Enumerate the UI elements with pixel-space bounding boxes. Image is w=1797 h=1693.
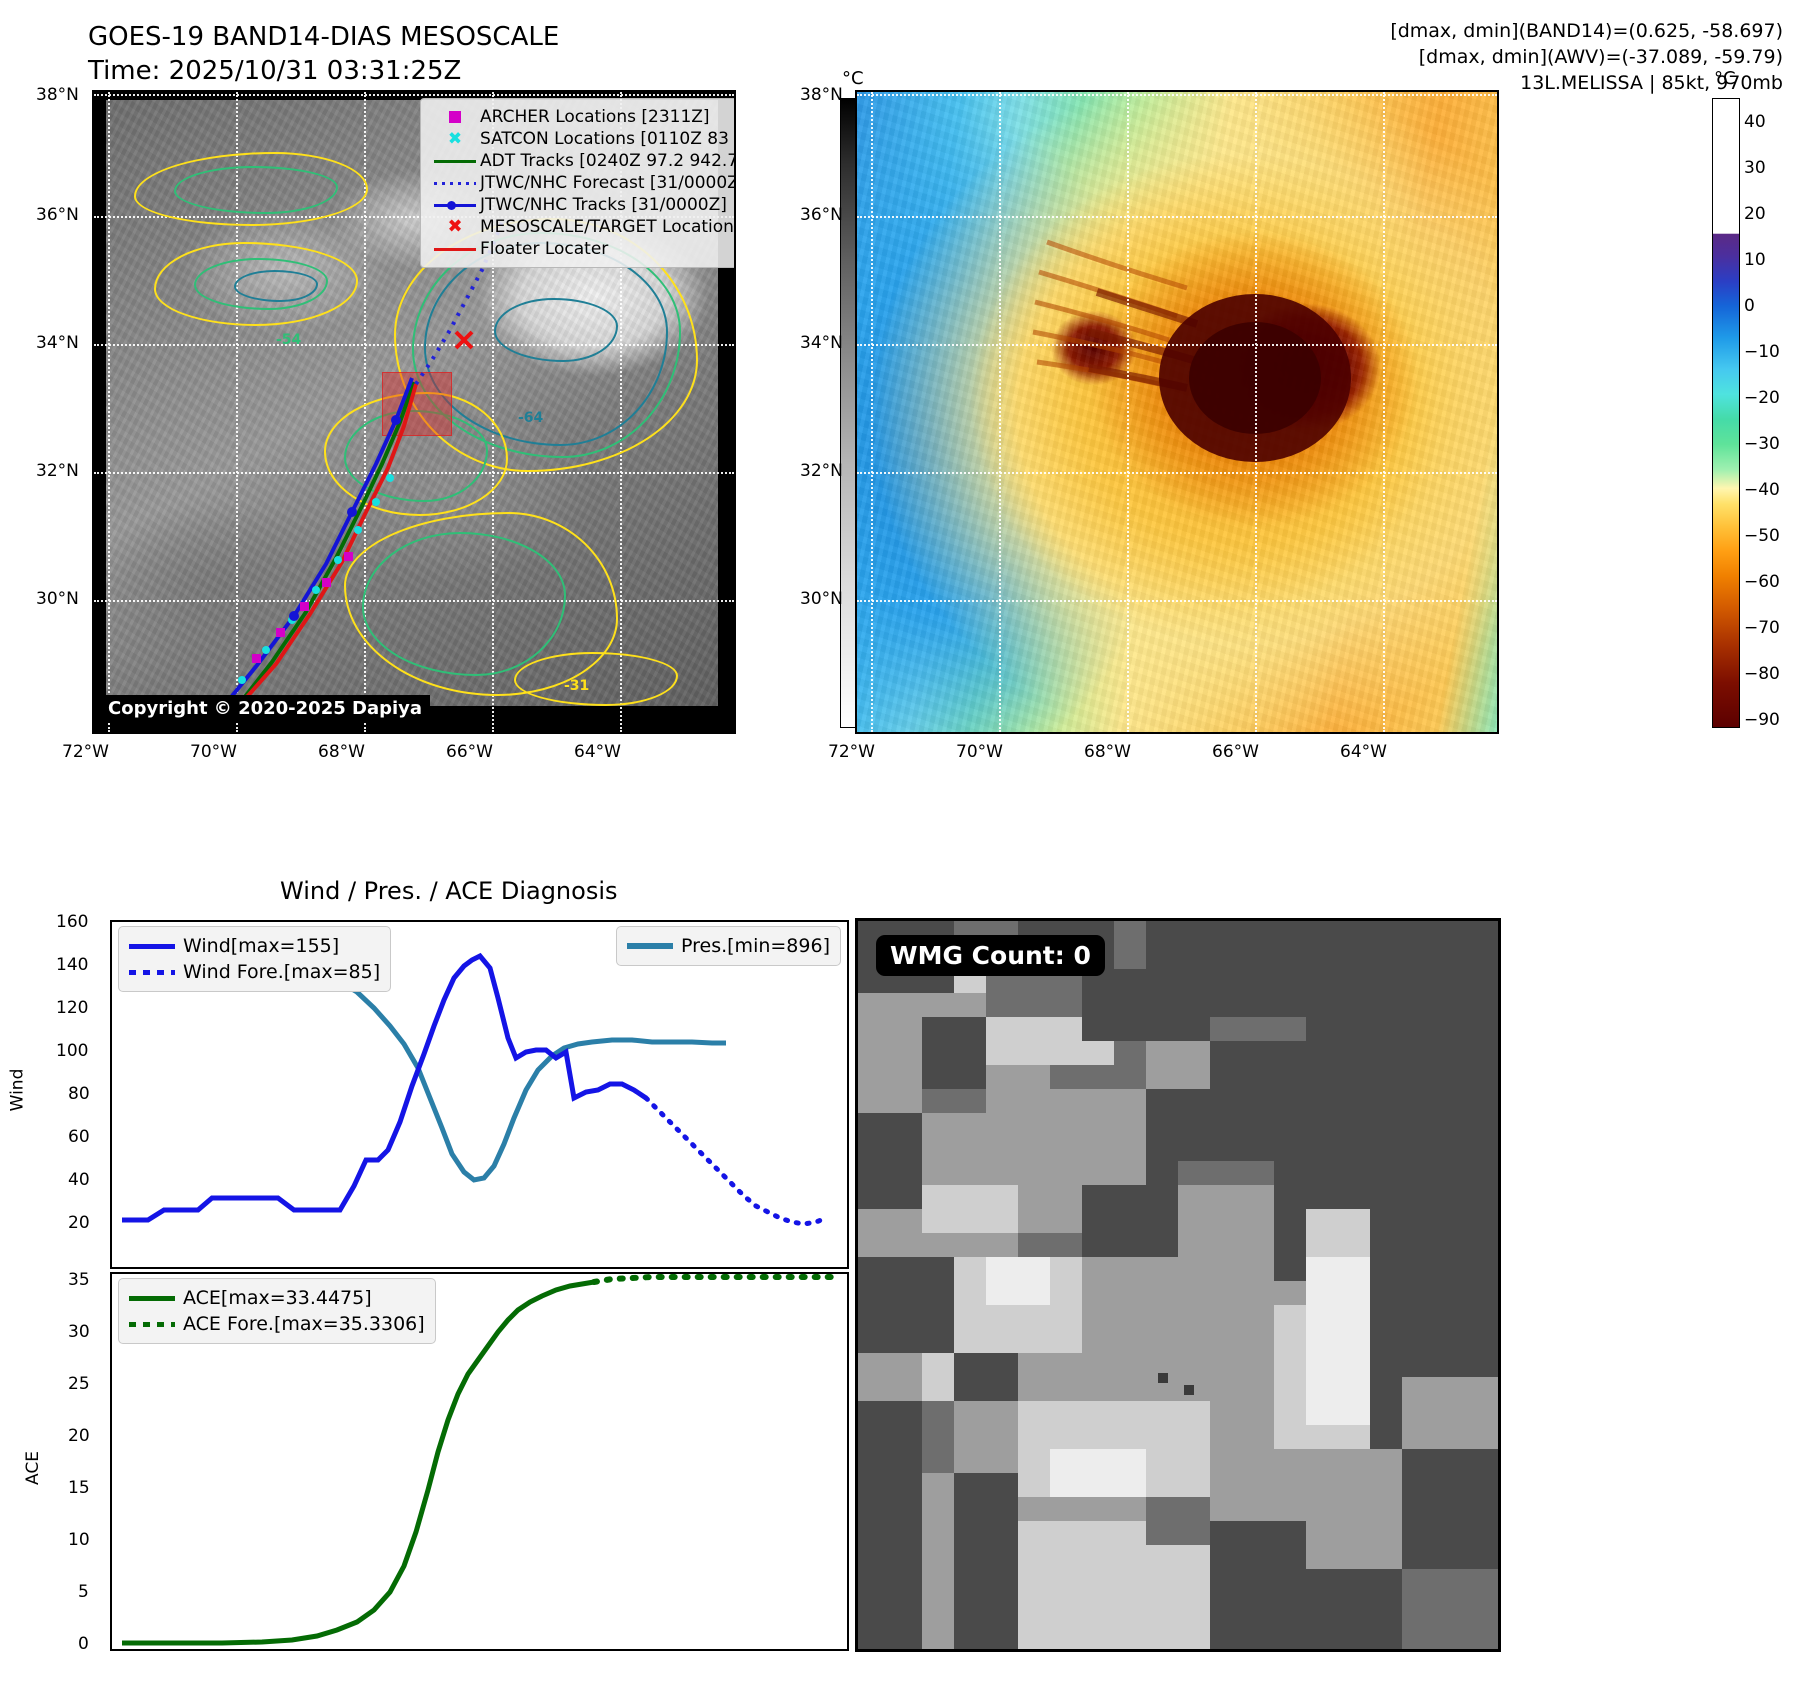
tr-gridline-lat-36 <box>857 216 1497 218</box>
wind-pressure-chart[interactable]: Wind[max=155] Wind Fore.[max=85] Pres.[m… <box>110 920 849 1269</box>
wind-legend-item: Wind[max=155] <box>129 933 380 959</box>
map-legend: ARCHER Locations [2311Z] ✖ SATCON Locati… <box>420 98 736 268</box>
ace-forecast-series-line <box>594 1277 832 1282</box>
contour-green-2 <box>174 166 338 214</box>
tr-colorbar-ticks: 40 30 20 10 0 −10 −20 −30 −40 −50 −60 −7… <box>1744 98 1797 726</box>
ace-tick-35: 35 <box>68 1270 90 1290</box>
ace-chart[interactable]: ACE[max=33.4475] ACE Fore.[max=35.3306] <box>110 1272 849 1651</box>
wind-forecast-legend-item: Wind Fore.[max=85] <box>129 959 380 985</box>
tr-cb-tick-m50: −50 <box>1744 526 1780 546</box>
ace-forecast-legend-item: ACE Fore.[max=35.3306] <box>129 1311 425 1337</box>
wind-axis-label: Wind <box>7 1069 27 1112</box>
tl-lat-tick-38n: 38°N <box>36 85 79 105</box>
diagnosis-title: Wind / Pres. / ACE Diagnosis <box>280 877 618 905</box>
goes19-band14-mesoscale-map[interactable]: -54 -64 -31 -54 <box>92 90 736 734</box>
tr-cb-tick-m70: −70 <box>1744 618 1780 638</box>
cyan-x-marker-icon: ✖ <box>430 133 480 145</box>
green-solid-line-icon <box>430 160 480 163</box>
magenta-square-marker-icon <box>430 111 480 123</box>
page-title: GOES-19 BAND14-DIAS MESOSCALE Time: 2025… <box>88 20 559 88</box>
tr-cb-tick-40: 40 <box>1744 112 1766 132</box>
tl-lat-tick-34n: 34°N <box>36 333 79 353</box>
legend-label-mesoscale: MESOSCALE/TARGET Location <box>480 217 734 237</box>
ace-legend: ACE[max=33.4475] ACE Fore.[max=35.3306] <box>118 1278 436 1344</box>
blue-line-with-dot-icon <box>430 204 480 207</box>
steel-solid-line-icon <box>627 943 681 949</box>
legend-label-archer: ARCHER Locations [2311Z] <box>480 107 710 127</box>
pressure-legend-label: Pres.[min=896] <box>681 935 830 957</box>
ace-legend-label: ACE[max=33.4475] <box>183 1287 372 1309</box>
tr-gridline-lat-32 <box>857 472 1497 474</box>
contour-teal-3 <box>494 298 618 362</box>
legend-label-satcon: SATCON Locations [0110Z 83 956] <box>480 129 736 149</box>
tr-lat-tick-30n: 30°N <box>800 589 843 609</box>
red-x-marker-icon: ✖ <box>430 221 480 233</box>
wind-tick-140: 140 <box>56 955 88 975</box>
contour-label-54b: -54 <box>562 732 587 734</box>
legend-item-floater: Floater Locater <box>430 238 736 260</box>
tr-lon-tick-66w: 66°W <box>1212 742 1259 762</box>
tr-cb-tick-0: 0 <box>1744 296 1755 316</box>
legend-label-floater: Floater Locater <box>480 239 608 259</box>
ace-tick-15: 15 <box>68 1478 90 1498</box>
tl-lon-tick-64w: 64°W <box>574 742 621 762</box>
tl-lat-tick-36n: 36°N <box>36 205 79 225</box>
tr-cb-tick-20: 20 <box>1744 204 1766 224</box>
red-solid-line-icon <box>430 248 480 251</box>
tr-lon-tick-72w: 72°W <box>828 742 875 762</box>
tr-gridline-lon-68 <box>1127 92 1129 732</box>
wmg-panel[interactable]: WMG Count: 0 <box>855 918 1501 1652</box>
ace-axis-label: ACE <box>23 1451 43 1485</box>
wind-legend-label: Wind[max=155] <box>183 935 339 957</box>
tr-cb-tick-m80: −80 <box>1744 664 1780 684</box>
legend-item-adt: ADT Tracks [0240Z 97.2 942.7] <box>430 150 736 172</box>
tl-lon-tick-68w: 68°W <box>318 742 365 762</box>
pressure-legend-item: Pres.[min=896] <box>627 933 830 959</box>
wind-tick-60: 60 <box>68 1127 90 1147</box>
contour-yellow-6 <box>514 652 678 706</box>
wind-tick-100: 100 <box>56 1041 88 1061</box>
floater-target-box <box>382 372 452 436</box>
ace-tick-5: 5 <box>78 1582 89 1602</box>
wind-series-line <box>122 956 646 1220</box>
tr-gridline-lon-70 <box>999 92 1001 732</box>
tl-lon-tick-70w: 70°W <box>190 742 237 762</box>
tr-gridline-lat-38 <box>857 94 1497 96</box>
blue-dotted-line-icon <box>430 182 480 185</box>
contour-teal-2 <box>234 270 318 302</box>
tr-lon-tick-64w: 64°W <box>1340 742 1387 762</box>
ace-tick-25: 25 <box>68 1374 90 1394</box>
copyright-notice: Copyright © 2020-2025 Dapiya <box>100 695 430 722</box>
gridline-lat-38 <box>94 94 734 96</box>
tr-cb-tick-30: 30 <box>1744 158 1766 178</box>
wind-tick-40: 40 <box>68 1170 90 1190</box>
tr-gridline-lat-34 <box>857 344 1497 346</box>
ace-tick-30: 30 <box>68 1322 90 1342</box>
tr-lat-tick-36n: 36°N <box>800 205 843 225</box>
ir-enhanced-map[interactable] <box>855 90 1499 734</box>
legend-item-satcon: ✖ SATCON Locations [0110Z 83 956] <box>430 128 736 150</box>
ace-forecast-legend-label: ACE Fore.[max=35.3306] <box>183 1313 425 1335</box>
tr-lat-tick-34n: 34°N <box>800 333 843 353</box>
tr-cb-tick-10: 10 <box>1744 250 1766 270</box>
tr-cb-tick-m30: −30 <box>1744 434 1780 454</box>
wind-forecast-series-line <box>646 1098 826 1224</box>
wind-tick-120: 120 <box>56 998 88 1018</box>
tl-lon-tick-72w: 72°W <box>62 742 109 762</box>
wind-tick-20: 20 <box>68 1213 90 1233</box>
green-dotted-line-icon <box>129 1322 183 1327</box>
contour-label-64: -64 <box>518 410 543 426</box>
tr-cb-tick-m90: −90 <box>1744 710 1780 730</box>
tl-lon-tick-66w: 66°W <box>446 742 493 762</box>
green-solid-line-icon <box>129 1296 183 1301</box>
wmg-count-badge: WMG Count: 0 <box>876 935 1105 976</box>
legend-item-tracks: JTWC/NHC Tracks [31/0000Z] <box>430 194 736 216</box>
cloud-band-overlay <box>857 92 1497 732</box>
wmg-pixel-map <box>858 921 1498 1649</box>
tr-lon-tick-70w: 70°W <box>956 742 1003 762</box>
gridline-lon-72 <box>108 92 110 732</box>
tr-colorbar-units: °C <box>1714 68 1736 89</box>
legend-label-forecast: JTWC/NHC Forecast [31/0000Z] <box>480 173 736 193</box>
ace-legend-item: ACE[max=33.4475] <box>129 1285 425 1311</box>
map-left-border <box>94 92 106 732</box>
legend-item-forecast: JTWC/NHC Forecast [31/0000Z] <box>430 172 736 194</box>
legend-item-archer: ARCHER Locations [2311Z] <box>430 106 736 128</box>
wind-forecast-legend-label: Wind Fore.[max=85] <box>183 961 380 983</box>
contour-label-54a: -54 <box>276 332 301 348</box>
tl-lat-tick-32n: 32°N <box>36 461 79 481</box>
ace-tick-20: 20 <box>68 1426 90 1446</box>
contour-label-31: -31 <box>564 678 589 694</box>
tr-cb-tick-m40: −40 <box>1744 480 1780 500</box>
tl-colorbar-units: °C <box>842 68 864 89</box>
ace-tick-10: 10 <box>68 1530 90 1550</box>
tr-gridline-lat-30 <box>857 600 1497 602</box>
tr-lat-tick-32n: 32°N <box>800 461 843 481</box>
ace-tick-0: 0 <box>78 1634 89 1654</box>
blue-dotted-line-icon <box>129 970 183 975</box>
tr-gridline-lon-72 <box>871 92 873 732</box>
wind-legend: Wind[max=155] Wind Fore.[max=85] <box>118 926 391 992</box>
tr-lat-tick-38n: 38°N <box>800 85 843 105</box>
tl-lat-tick-30n: 30°N <box>36 589 79 609</box>
blue-solid-line-icon <box>129 944 183 949</box>
pressure-legend: Pres.[min=896] <box>616 926 841 966</box>
contour-green-5 <box>362 532 566 676</box>
tr-colorbar-ir <box>1712 98 1740 728</box>
wind-tick-160: 160 <box>56 912 88 932</box>
tr-gridline-lon-64 <box>1383 92 1385 732</box>
legend-label-adt: ADT Tracks [0240Z 97.2 942.7] <box>480 151 736 171</box>
tr-cb-tick-m60: −60 <box>1744 572 1780 592</box>
tr-cb-tick-m10: −10 <box>1744 342 1780 362</box>
wind-tick-80: 80 <box>68 1084 90 1104</box>
legend-label-tracks: JTWC/NHC Tracks [31/0000Z] <box>480 195 727 215</box>
legend-item-mesoscale: ✖ MESOSCALE/TARGET Location <box>430 216 736 238</box>
tr-gridline-lon-66 <box>1255 92 1257 732</box>
tr-lon-tick-68w: 68°W <box>1084 742 1131 762</box>
tr-cb-tick-m20: −20 <box>1744 388 1780 408</box>
